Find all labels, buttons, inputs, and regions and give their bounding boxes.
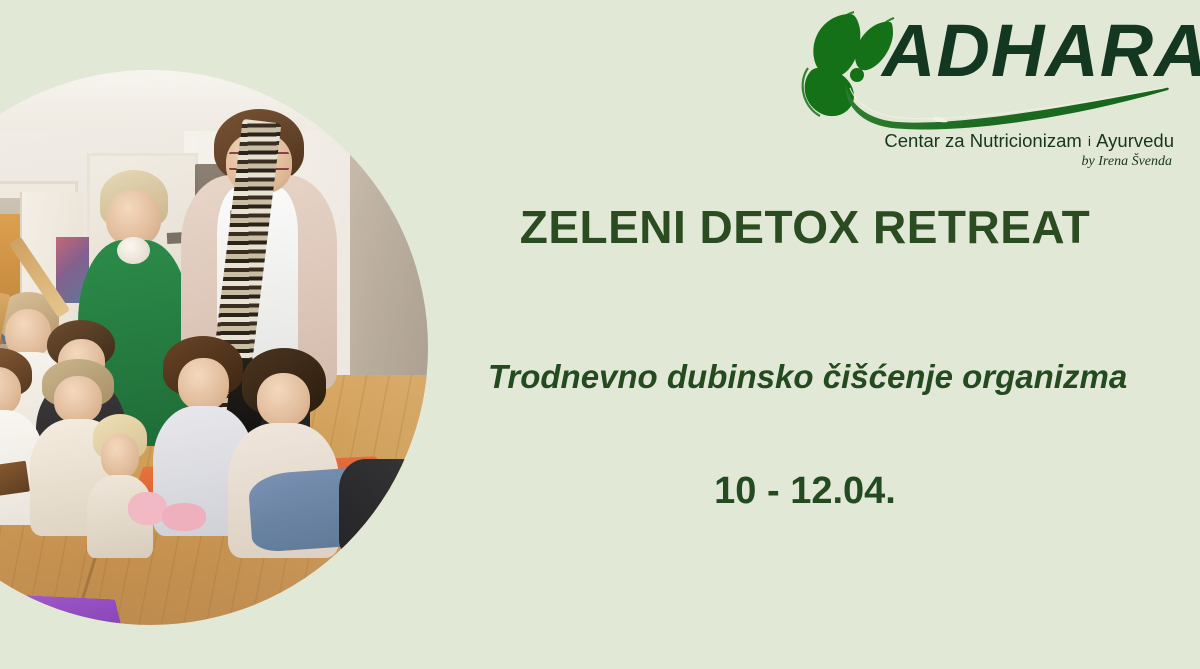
person-black-legs	[339, 459, 428, 559]
logo-byline: by Irena Švenda	[1082, 154, 1172, 170]
group-photo-image	[0, 70, 428, 625]
face	[101, 434, 139, 477]
person-child	[84, 414, 156, 558]
face	[257, 373, 310, 426]
logo-tagline-separator: i	[1087, 133, 1092, 149]
pink-sock-right	[162, 503, 206, 531]
leaf-swoosh-icon	[844, 82, 1174, 130]
face	[178, 358, 229, 410]
page-subtitle: Trodnevno dubinsko čišćenje organizma	[430, 358, 1185, 396]
adhara-logo[interactable]: ADHARA Centar za Nutricionizam i Ayurved…	[786, 4, 1178, 174]
logo-wordmark: ADHARA	[882, 14, 1200, 88]
logo-tagline-part1: Centar za Nutricionizam	[884, 130, 1081, 151]
logo-tagline: Centar za Nutricionizam i Ayurvedu	[884, 130, 1174, 152]
group-photo-circle	[0, 70, 428, 625]
page-title: ZELENI DETOX RETREAT	[440, 200, 1170, 254]
logo-tagline-part2: Ayurvedu	[1096, 130, 1174, 151]
event-dates: 10 - 12.04.	[440, 470, 1170, 513]
poster-canvas: ADHARA Centar za Nutricionizam i Ayurved…	[0, 0, 1200, 669]
